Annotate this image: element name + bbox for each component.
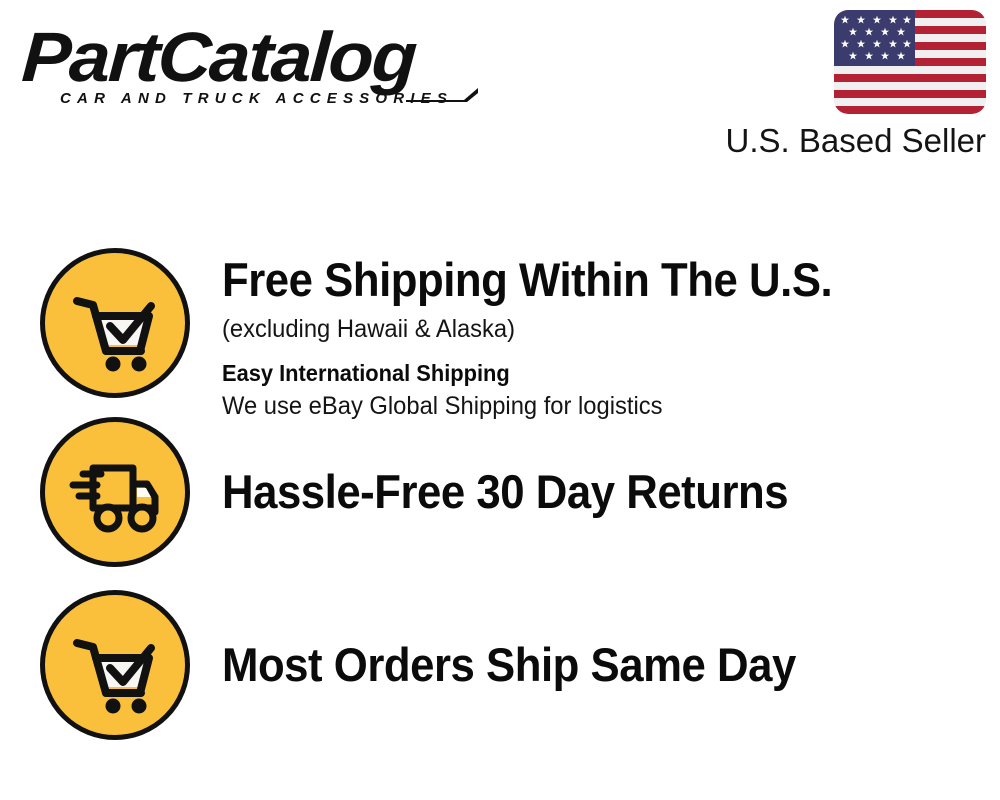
feature-text-block: Free Shipping Within The U.S. (excluding… (222, 248, 878, 423)
us-flag-icon (834, 10, 986, 114)
feature-row: Most Orders Ship Same Day (40, 590, 980, 740)
feature-text-block: Most Orders Ship Same Day (222, 639, 839, 691)
shopping-cart-check-icon (40, 248, 190, 398)
feature-text-block: Hassle-Free 30 Day Returns (222, 466, 831, 518)
feature-row: Free Shipping Within The U.S. (excluding… (40, 248, 980, 400)
shipping-info-banner: PartCatalog CAR AND TRUCK ACCESSORIES (0, 0, 1000, 800)
feature-headline: Hassle-Free 30 Day Returns (222, 466, 788, 518)
feature-row: Hassle-Free 30 Day Returns (40, 418, 980, 566)
delivery-truck-icon (40, 417, 190, 567)
feature-subline: (excluding Hawaii & Alaska) (222, 312, 845, 346)
brand-name: PartCatalog (20, 22, 522, 92)
feature-headline: Free Shipping Within The U.S. (222, 254, 832, 306)
shopping-cart-check-icon (40, 590, 190, 740)
banner-header: PartCatalog CAR AND TRUCK ACCESSORIES (0, 0, 1000, 180)
us-based-seller-label: U.S. Based Seller (714, 121, 986, 161)
feature-subhead: Easy International Shipping (222, 358, 845, 388)
feature-headline: Most Orders Ship Same Day (222, 639, 796, 691)
us-based-seller-block: U.S. Based Seller (714, 10, 986, 161)
logo-swoosh-icon (404, 86, 480, 102)
